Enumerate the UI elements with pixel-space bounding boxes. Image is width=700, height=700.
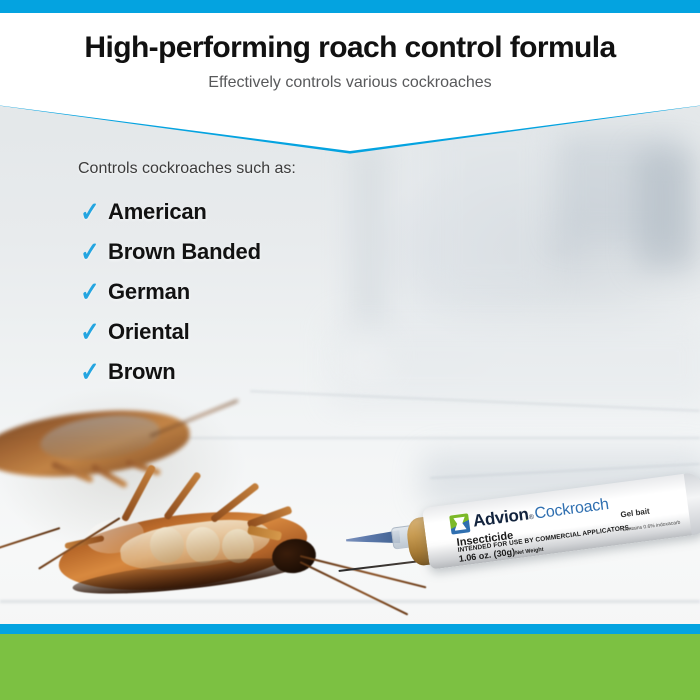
checklist-item-brown-banded: ✓ Brown Banded [78, 232, 296, 272]
advion-logo-icon [449, 513, 470, 534]
net-weight-suffix: Net Weight [515, 547, 544, 557]
checklist-item-oriental: ✓ Oriental [78, 312, 296, 352]
check-icon: ✓ [80, 199, 106, 226]
check-icon: ✓ [80, 279, 106, 306]
checklist-item-brown: ✓ Brown [78, 352, 296, 392]
footer-bar [0, 634, 700, 700]
brand-name: Advion [472, 504, 530, 531]
registered-trademark-icon: ® [528, 514, 534, 522]
active-ingredient: Contains 0.6% indoxacarb [622, 520, 681, 534]
bottom-accent-bar [0, 624, 700, 634]
blurred-background-object [340, 330, 392, 382]
check-icon: ✓ [80, 239, 106, 266]
blurred-background-object [636, 150, 696, 270]
checklist-item-label: German [108, 279, 190, 305]
top-accent-bar [0, 0, 700, 13]
checklist-item-label: American [108, 199, 207, 225]
cockroach-photo-subjects [0, 395, 430, 630]
checklist-item-label: Brown Banded [108, 239, 261, 265]
blurred-background-object [432, 118, 550, 298]
checklist-heading: Controls cockroaches such as: [78, 160, 296, 178]
syringe-crimp [684, 472, 700, 536]
checklist-item-german: ✓ German [78, 272, 296, 312]
product-infographic: High-performing roach control formula Ef… [0, 0, 700, 700]
checklist-item-american: ✓ American [78, 192, 296, 232]
page-title: High-performing roach control formula [0, 31, 700, 65]
check-icon: ✓ [80, 359, 106, 386]
cockroach-checklist: Controls cockroaches such as: ✓ American… [78, 160, 296, 392]
product-form: Gel bait [620, 507, 650, 520]
checklist-item-label: Oriental [108, 319, 190, 345]
checklist-item-label: Brown [108, 359, 175, 385]
brand-suffix: Cockroach [534, 496, 610, 524]
check-icon: ✓ [80, 319, 106, 346]
page-subtitle: Effectively controls various cockroaches [0, 74, 700, 92]
